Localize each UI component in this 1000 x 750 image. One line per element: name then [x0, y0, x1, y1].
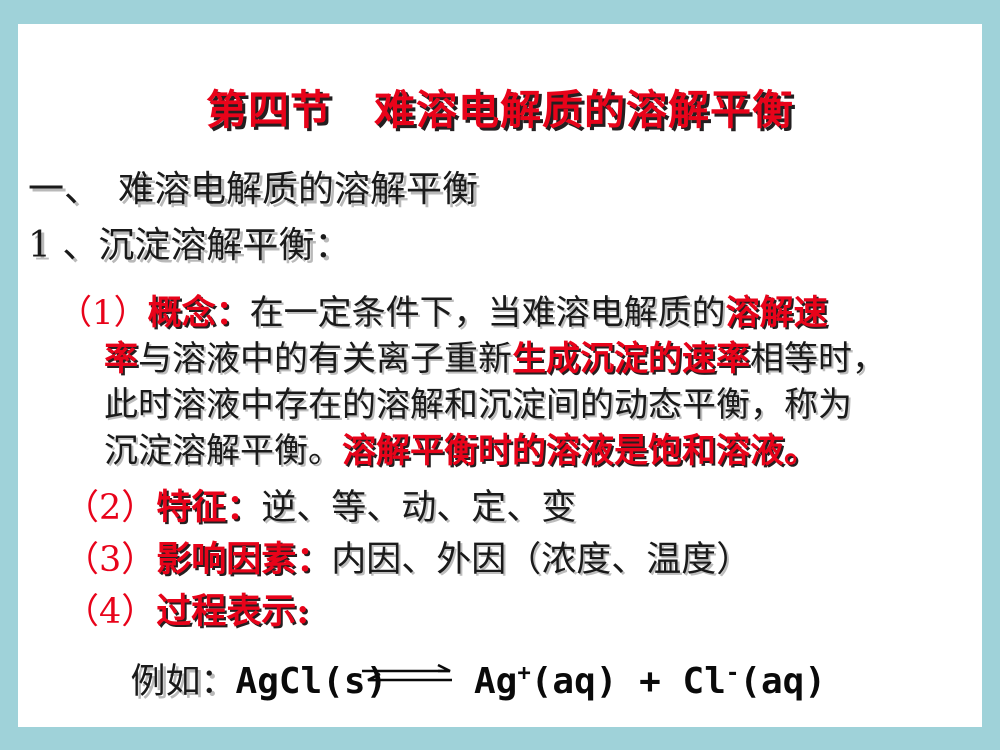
- equation-prefix: 例如：: [131, 662, 236, 702]
- heading-level-2: 1 、沉淀溶解平衡：: [28, 228, 350, 264]
- factors-value: 内因、外因（浓度、温度）: [331, 540, 751, 580]
- concept-paragraph: （1）概念：在一定条件下，当难溶电解质的溶解速 率与溶液中的有关离子重新生成沉淀…: [58, 290, 978, 474]
- heading-level-1: 一、 难溶电解质的溶解平衡: [28, 172, 478, 208]
- equation-plus: +: [617, 661, 682, 702]
- feature-label: 特征：: [156, 487, 261, 528]
- concept-line-2: 率与溶液中的有关离子重新生成沉淀的速率相等时，: [58, 336, 978, 382]
- process-label: 过程表示:: [156, 591, 309, 632]
- concept-line4-emph: 溶解平衡时的溶液是饱和溶液。: [342, 431, 818, 471]
- concept-line1-emph: 溶解速: [726, 293, 828, 333]
- concept-line1-text: 在一定条件下，当难溶电解质的: [250, 293, 726, 333]
- equation-right-cation: Ag+(aq): [474, 661, 618, 702]
- concept-label: 概念：: [148, 293, 250, 333]
- slide-title: 第四节 难溶电解质的溶解平衡: [18, 90, 982, 131]
- feature-marker: （2）: [64, 488, 156, 528]
- feature-value: 逆、等、动、定、变: [261, 488, 576, 528]
- factors-marker: （3）: [64, 540, 156, 580]
- equation-left-side: AgCl(s): [236, 661, 388, 702]
- concept-line2-emph-a: 率: [104, 339, 138, 379]
- concept-line4-text: 沉淀溶解平衡。: [104, 431, 342, 471]
- concept-line-3: 此时溶液中存在的溶解和沉淀间的动态平衡，称为: [58, 382, 978, 428]
- equation-right-anion: Cl-(aq): [683, 661, 827, 702]
- concept-line-1: （1）概念：在一定条件下，当难溶电解质的溶解速: [58, 290, 978, 336]
- equation-spacer: [387, 661, 474, 702]
- factors-label: 影响因素：: [156, 539, 331, 580]
- factors-item: （3）影响因素：内因、外因（浓度、温度）: [64, 542, 751, 578]
- concept-line2-text-a: 与溶液中的有关离子重新: [138, 339, 512, 379]
- feature-item: （2）特征：逆、等、动、定、变: [64, 490, 576, 526]
- slide-border-frame: 第四节 难溶电解质的溶解平衡 一、 难溶电解质的溶解平衡 1 、沉淀溶解平衡： …: [0, 0, 1000, 750]
- anion-charge: -: [726, 660, 739, 686]
- concept-marker: （1）: [58, 293, 148, 333]
- concept-line2-text-b: 相等时，: [750, 339, 886, 379]
- process-item: （4）过程表示:: [64, 594, 309, 630]
- process-marker: （4）: [64, 592, 156, 632]
- cation-charge: +: [517, 660, 530, 686]
- concept-line-4: 沉淀溶解平衡。溶解平衡时的溶液是饱和溶液。: [58, 428, 978, 474]
- slide-content-area: 第四节 难溶电解质的溶解平衡 一、 难溶电解质的溶解平衡 1 、沉淀溶解平衡： …: [18, 24, 982, 727]
- equation-line: 例如：AgCl(s) Ag+(aq) + Cl-(aq): [100, 646, 826, 727]
- concept-line2-emph-b: 生成沉淀的速率: [512, 339, 750, 379]
